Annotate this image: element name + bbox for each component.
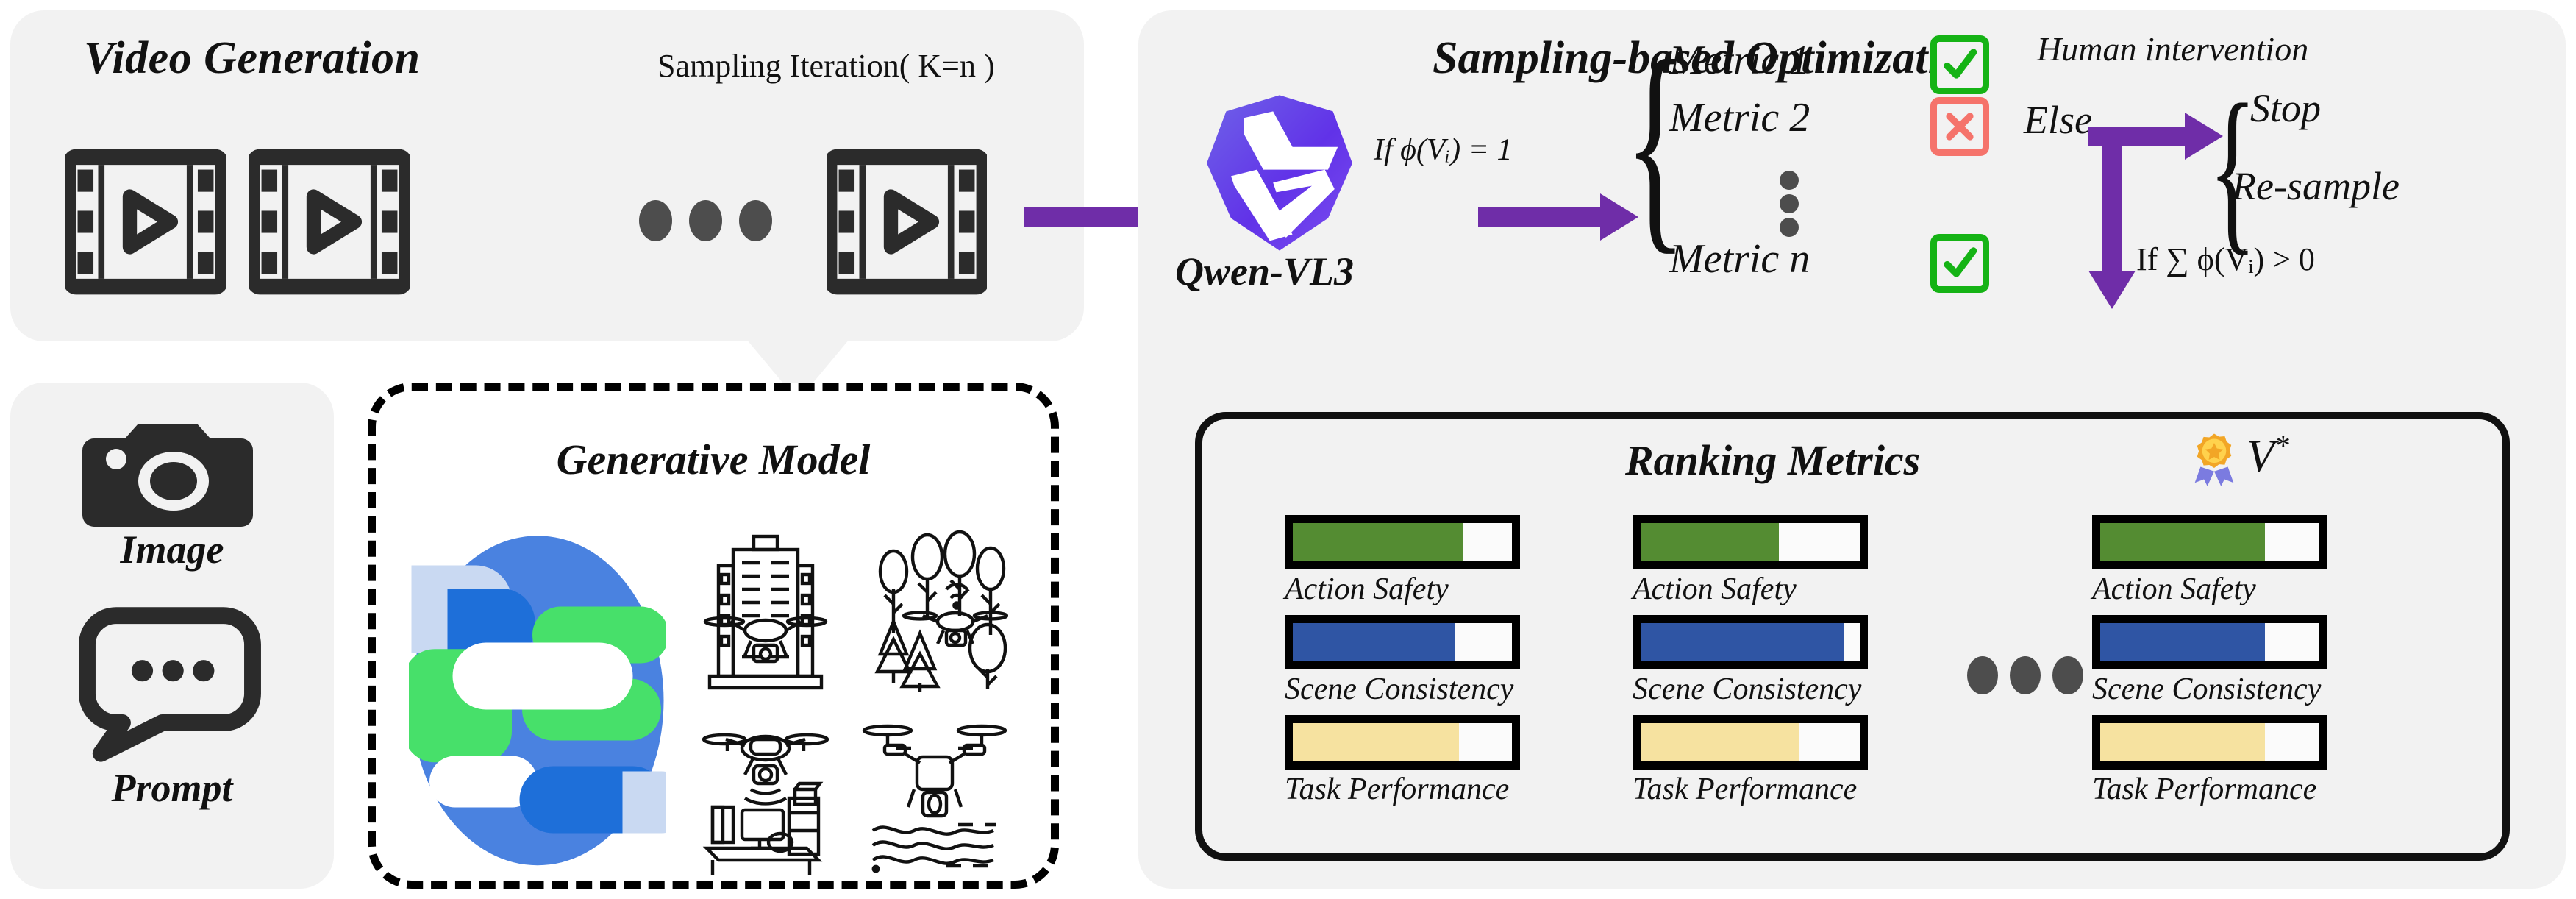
action-safety-bar bbox=[2092, 515, 2327, 569]
bar-group-action-safety: Action Safety bbox=[1285, 515, 1579, 606]
input-panel: Image Prompt bbox=[10, 383, 334, 889]
check-icon bbox=[1930, 234, 1989, 293]
water-drone-icon bbox=[861, 707, 1008, 876]
resample-option-label: Re-sample bbox=[2232, 163, 2400, 209]
video-frame-icon bbox=[249, 143, 410, 301]
bar-label: Task Performance bbox=[1285, 772, 1579, 806]
arrow-else-vertical bbox=[2102, 127, 2122, 274]
bar-group-scene-consistency: Scene Consistency bbox=[2092, 615, 2386, 706]
bar-label: Action Safety bbox=[2092, 572, 2386, 606]
ranking-column: Action Safety Scene Consistency Task Per… bbox=[1633, 515, 1927, 816]
forest-drone-icon bbox=[861, 530, 1008, 700]
bar-label: Scene Consistency bbox=[1285, 672, 1579, 706]
image-label: Image bbox=[10, 527, 334, 572]
generative-model-box: Generative Model bbox=[368, 383, 1059, 889]
prompt-label: Prompt bbox=[10, 765, 334, 811]
metric-label: Metric 2 bbox=[1669, 94, 1810, 141]
sampling-iteration-label: Sampling Iteration( K=n ) bbox=[657, 47, 995, 85]
bar-label: Task Performance bbox=[1633, 772, 1927, 806]
bar-group-task-performance: Task Performance bbox=[2092, 715, 2386, 806]
video-generation-title: Video Generation bbox=[84, 32, 421, 85]
ranking-column: Action Safety Scene Consistency Task Per… bbox=[2092, 515, 2386, 816]
metric-label: Metric 1 bbox=[1669, 37, 1810, 84]
qwen-logo-icon bbox=[1199, 92, 1360, 250]
bar-group-scene-consistency: Scene Consistency bbox=[1285, 615, 1579, 706]
check-icon bbox=[1930, 35, 1989, 94]
task-performance-bar bbox=[1633, 715, 1868, 770]
action-safety-bar bbox=[1285, 515, 1520, 569]
arrow-video-to-model bbox=[1024, 207, 1156, 227]
task-performance-bar bbox=[2092, 715, 2327, 770]
video-frame-icon bbox=[827, 143, 987, 301]
bar-label: Scene Consistency bbox=[2092, 672, 2386, 706]
best-video-label: V* bbox=[2247, 428, 2289, 483]
scene-consistency-bar bbox=[2092, 615, 2327, 669]
else-label: Else bbox=[2024, 97, 2092, 143]
ranking-metrics-card: Ranking Metrics V* Action Safety Scene C… bbox=[1195, 412, 2510, 861]
speech-bubble-icon bbox=[78, 603, 262, 761]
action-safety-bar bbox=[1633, 515, 1868, 569]
scene-consistency-bar bbox=[1285, 615, 1520, 669]
ranking-column: Action Safety Scene Consistency Task Per… bbox=[1285, 515, 1579, 816]
metrics-vertical-ellipsis bbox=[1780, 171, 1805, 230]
human-intervention-label: Human intervention bbox=[2037, 29, 2308, 68]
bar-group-task-performance: Task Performance bbox=[1633, 715, 1927, 806]
scene-consistency-bar bbox=[1633, 615, 1868, 669]
video-frame-icon bbox=[65, 143, 226, 301]
bar-label: Scene Consistency bbox=[1633, 672, 1927, 706]
metric-label: Metric n bbox=[1669, 235, 1810, 283]
bar-label: Action Safety bbox=[1285, 572, 1579, 606]
model-name-label: Qwen-VL3 bbox=[1175, 249, 1354, 294]
bar-group-action-safety: Action Safety bbox=[2092, 515, 2386, 606]
stop-option-label: Stop bbox=[2250, 85, 2321, 131]
condition-sum-label: If ∑ ϕ(Vᵢ) > 0 bbox=[2136, 241, 2315, 278]
bar-group-task-performance: Task Performance bbox=[1285, 715, 1579, 806]
arrow-head-icon bbox=[2088, 271, 2136, 309]
video-generation-panel: Video Generation Sampling Iteration( K=n… bbox=[10, 10, 1084, 341]
condition-true-label: If ϕ(Vᵢ) = 1 bbox=[1374, 132, 1513, 168]
ranking-metrics-title: Ranking Metrics bbox=[1625, 436, 1920, 485]
arrow-model-to-metrics bbox=[1478, 207, 1603, 227]
bar-group-scene-consistency: Scene Consistency bbox=[1633, 615, 1927, 706]
bar-group-action-safety: Action Safety bbox=[1633, 515, 1927, 606]
video-frames-ellipsis bbox=[639, 200, 786, 244]
medal-icon bbox=[2191, 433, 2237, 486]
generative-model-title: Generative Model bbox=[376, 435, 1051, 484]
bar-label: Action Safety bbox=[1633, 572, 1927, 606]
globe-icon bbox=[409, 527, 666, 873]
ranking-columns-ellipsis bbox=[1967, 656, 2085, 694]
camera-icon bbox=[79, 415, 256, 524]
task-performance-bar bbox=[1285, 715, 1520, 770]
city-drone-icon bbox=[692, 530, 839, 700]
cross-icon bbox=[1930, 97, 1989, 156]
bar-label: Task Performance bbox=[2092, 772, 2386, 806]
office-drone-icon bbox=[692, 707, 839, 876]
